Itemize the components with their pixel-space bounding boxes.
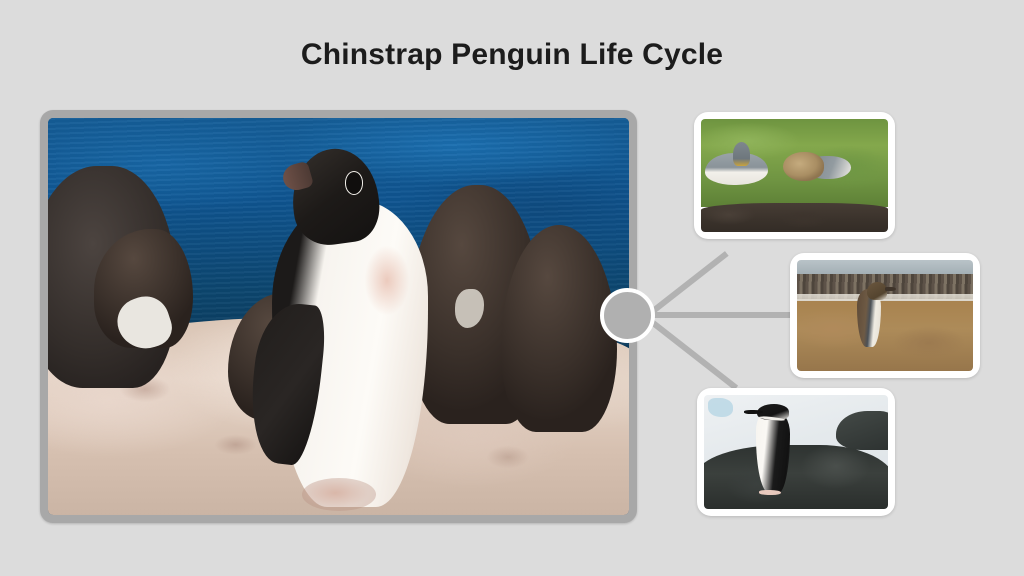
- connector-line-to-juvenile-thumbnail: [648, 312, 798, 318]
- adult-penguin: [257, 142, 443, 507]
- adult-penguin-head: [733, 142, 750, 167]
- adult-chinstrap-body: [756, 409, 791, 493]
- thumbnail-chick-with-adults[interactable]: [694, 112, 895, 239]
- penguin-feet: [302, 478, 376, 511]
- juvenile-penguin-head: [867, 282, 886, 300]
- downy-chick: [783, 152, 824, 181]
- connector-line-to-chick-thumbnail: [646, 251, 728, 317]
- connector-line-to-adult-thumbnail: [646, 317, 738, 391]
- sand-foreground: [797, 301, 973, 371]
- main-photo-frame[interactable]: [40, 110, 637, 523]
- penguin-breast-stain: [361, 240, 413, 320]
- penguin-eye: [345, 171, 364, 195]
- thumbnail-juvenile-penguin[interactable]: [790, 253, 980, 378]
- thumbnail-juvenile-image: [797, 260, 973, 371]
- main-photo-image: [48, 118, 629, 515]
- thumbnail-adult-image: [704, 395, 888, 509]
- thumbnail-chick-image: [701, 119, 888, 232]
- soil-foreground: [701, 203, 888, 232]
- page-title: Chinstrap Penguin Life Cycle: [0, 38, 1024, 72]
- blue-ice-patch: [708, 398, 734, 416]
- adult-chinstrap-beak: [744, 410, 762, 414]
- juvenile-penguin-beak: [885, 287, 896, 291]
- connector-hub-node[interactable]: [600, 288, 655, 343]
- thumbnail-adult-chinstrap[interactable]: [697, 388, 895, 516]
- volcanic-rock: [704, 445, 888, 509]
